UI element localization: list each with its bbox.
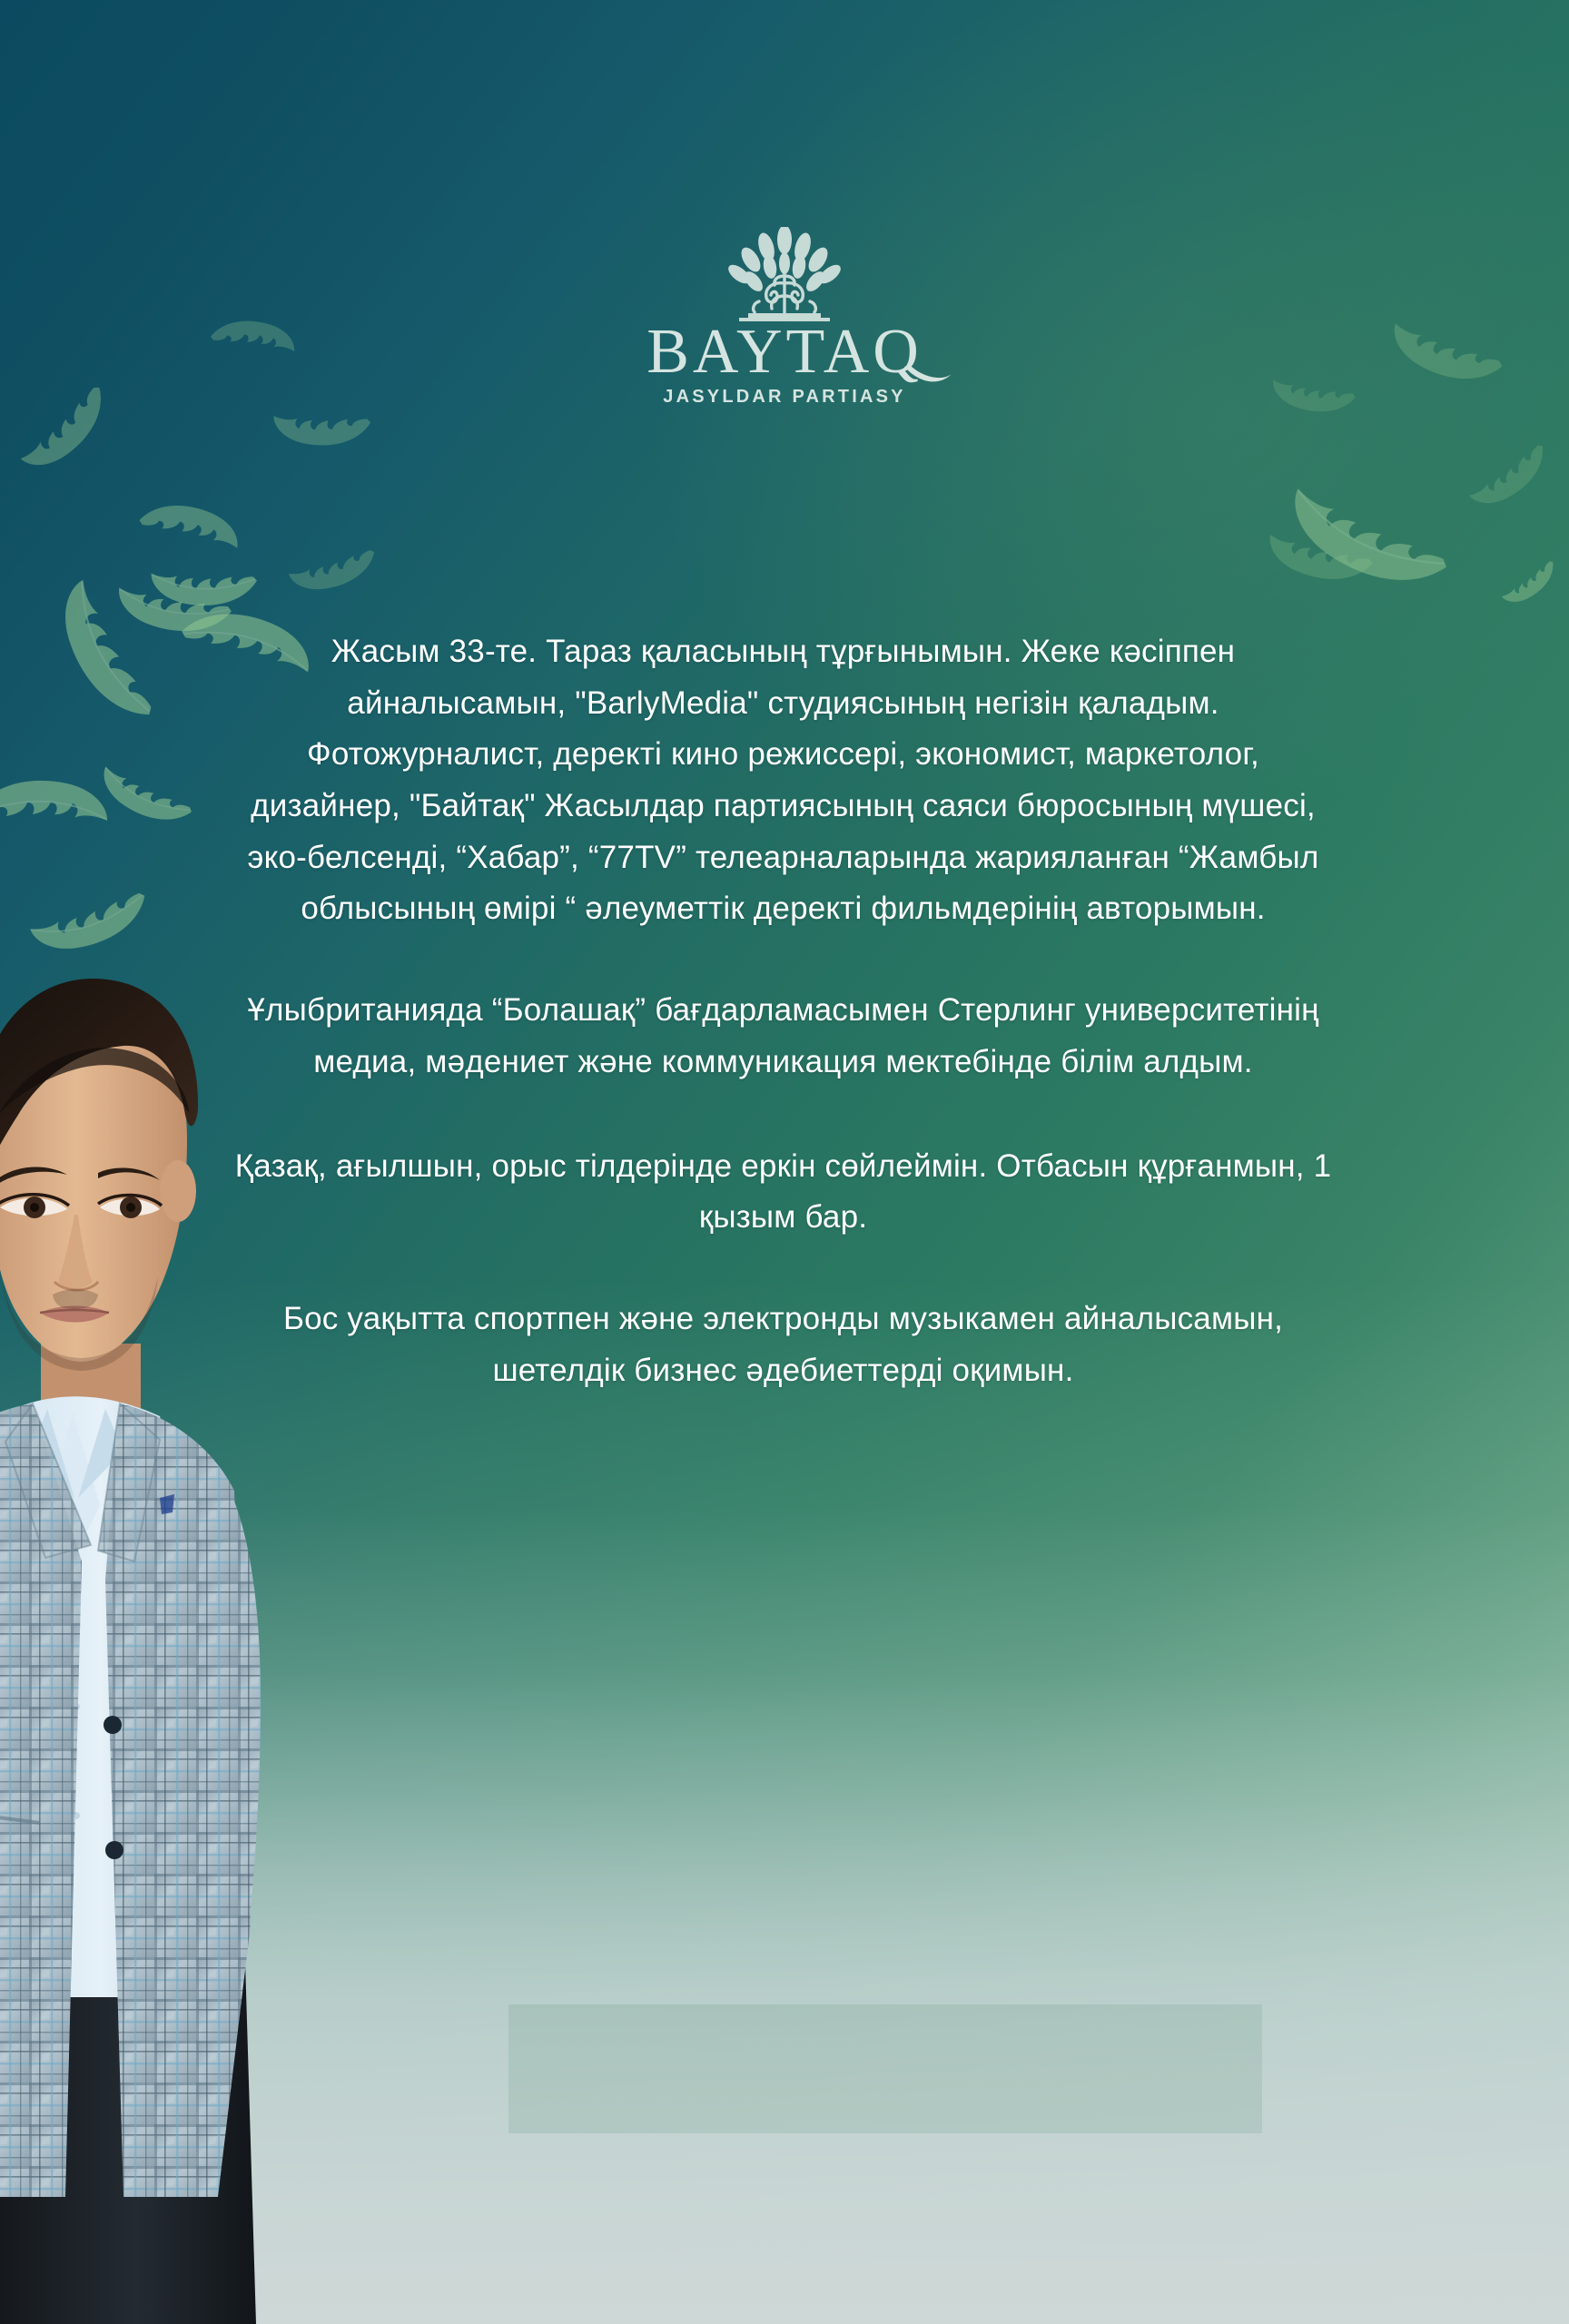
leaf-icon [267, 375, 377, 468]
bio-paragraph-4: Бос уақытта спортпен және электронды муз… [232, 1294, 1335, 1396]
background-bottom-fade [0, 1507, 1569, 2324]
bio-paragraph-1: Жасым 33-те. Тараз қаласының тұрғынымын.… [232, 626, 1335, 935]
poster-canvas: BAYTAQ JASYLDAR PARTIASY [0, 0, 1569, 2324]
background-soft-block [508, 2004, 1262, 2133]
bio-paragraph-2: Ұлыбританияда “Болашақ” бағдарламасымен … [232, 985, 1335, 1088]
bio-paragraph-3: Қазақ, ағылшын, орыс тілдерінде еркін сө… [232, 1141, 1335, 1244]
leaf-icon [281, 521, 383, 608]
bio-text-block: Жасым 33-те. Тараз қаласының тұрғынымын.… [232, 626, 1335, 1396]
leaf-icon [0, 750, 116, 877]
